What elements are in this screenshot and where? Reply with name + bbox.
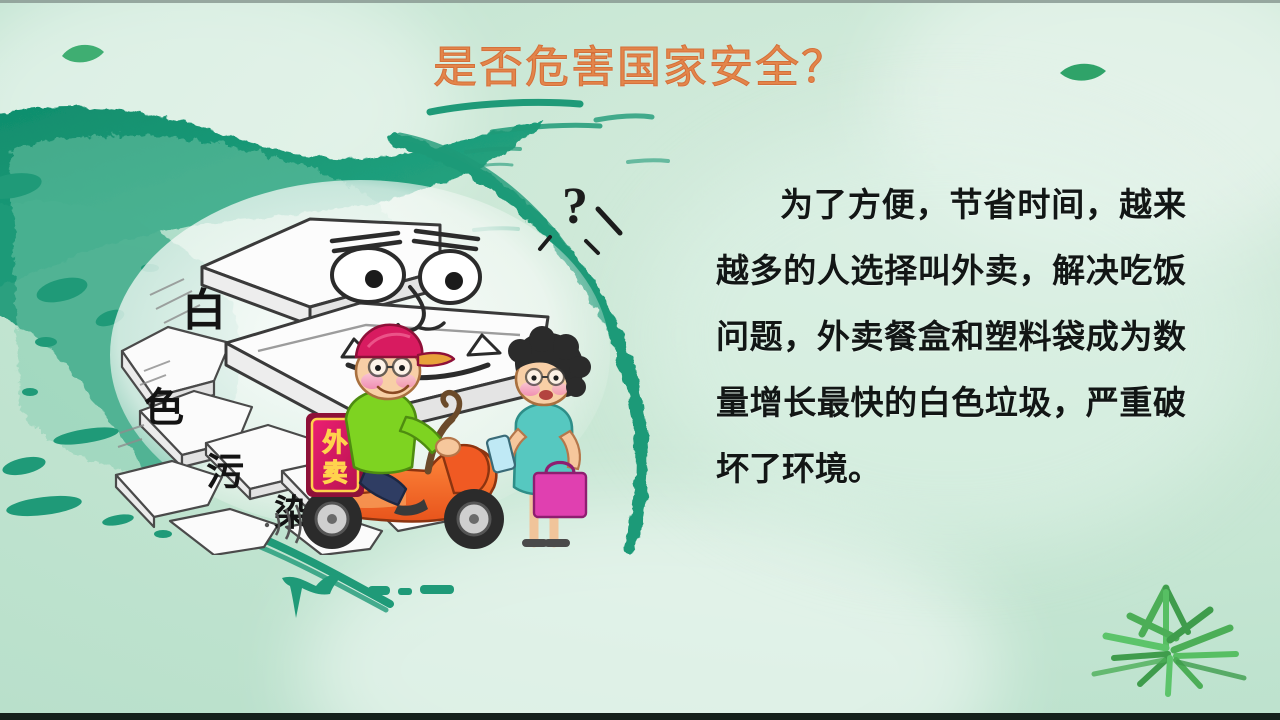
caption-char-0: 白 [182,286,226,335]
svg-text:?: ? [562,178,588,235]
rider-head [356,325,454,399]
top-border-line [0,0,1280,3]
angry-foam-box-character [202,219,548,437]
scooter-body [324,447,496,521]
ink-arc-stroke [395,136,642,548]
bamboo-leaves-icon [1070,562,1260,702]
smartphone [486,435,516,473]
scooter-wheels [302,489,504,549]
rider-hand [436,438,460,456]
rider-cap [356,325,422,357]
rider-shirt [346,391,416,473]
slide-canvas: 白 色 污 染 [0,0,1280,720]
ink-brush-artwork [0,0,720,660]
ink-mass-main [0,107,545,486]
question-mark-icon: ? [540,178,620,253]
woman-hair [515,332,584,397]
mirror [443,393,459,419]
paper-wash-3 [300,500,1000,720]
ink-dash-bottom [368,580,458,602]
angry-eyes [332,248,480,303]
speed-lines [265,505,301,543]
caption-char-2: 污 [206,452,244,494]
cap-brim [418,353,454,366]
page-title: 是否危害国家安全？ [0,46,1280,90]
bird-icon [276,562,356,622]
caption-char-1: 色 [144,386,184,430]
white-pollution-illustration: 白 色 污 染 [110,175,670,555]
ink-splatter [0,169,172,538]
ink-halo [10,136,408,473]
customer-woman [486,326,591,543]
delivery-box: 外 卖 [306,413,364,497]
delivery-box-label-char-1: 外 [322,428,347,457]
caption-char-3: 染 [274,492,310,533]
foam-box-pile [116,327,462,555]
paper-wash-1 [0,0,460,260]
delivery-box-label-char-2: 卖 [322,459,347,487]
woman-dress [514,404,574,495]
motion-lines [118,279,200,447]
bottom-border-bar [0,713,1280,720]
delivery-rider-scene: 外 卖 [265,325,504,549]
handbag [534,463,586,518]
caption-chars: 白 色 污 染 [144,286,310,533]
ink-dash-strokes [430,102,668,230]
woman-head [508,326,591,405]
body-paragraph: 为了方便，节省时间，越来越多的人选择叫外卖，解决吃饭问题，外卖餐盒和塑料袋成为数… [716,172,1186,502]
